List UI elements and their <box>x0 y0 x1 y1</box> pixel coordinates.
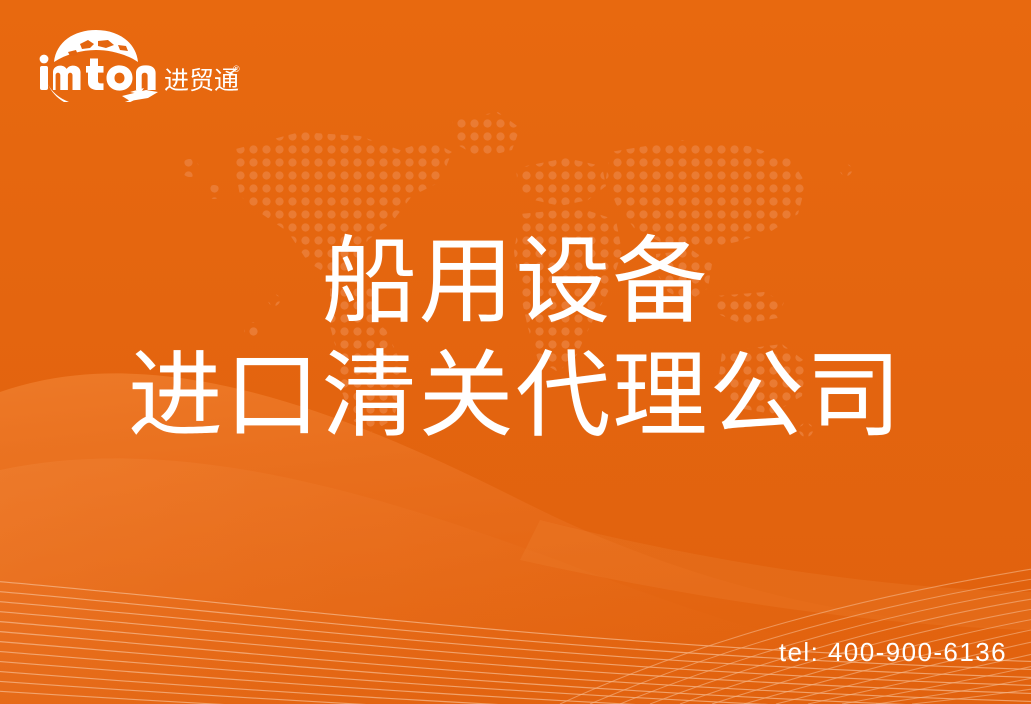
headline-line-2: 进口清关代理公司 <box>0 340 1031 452</box>
trademark-symbol: ® <box>233 64 240 74</box>
imton-logo[interactable]: 进贸通 ® <box>34 26 246 102</box>
headline-line-1: 船用设备 <box>0 226 1031 338</box>
globe-dome-icon <box>54 30 138 62</box>
contact-phone[interactable]: tel: 400-900-6136 <box>779 637 1007 668</box>
logo-chinese-name: 进贸通 <box>164 67 239 95</box>
page-title: 船用设备 进口清关代理公司 <box>0 226 1031 452</box>
promo-banner: 进贸通 ® 船用设备 进口清关代理公司 tel: 400-900-6136 <box>0 0 1031 704</box>
